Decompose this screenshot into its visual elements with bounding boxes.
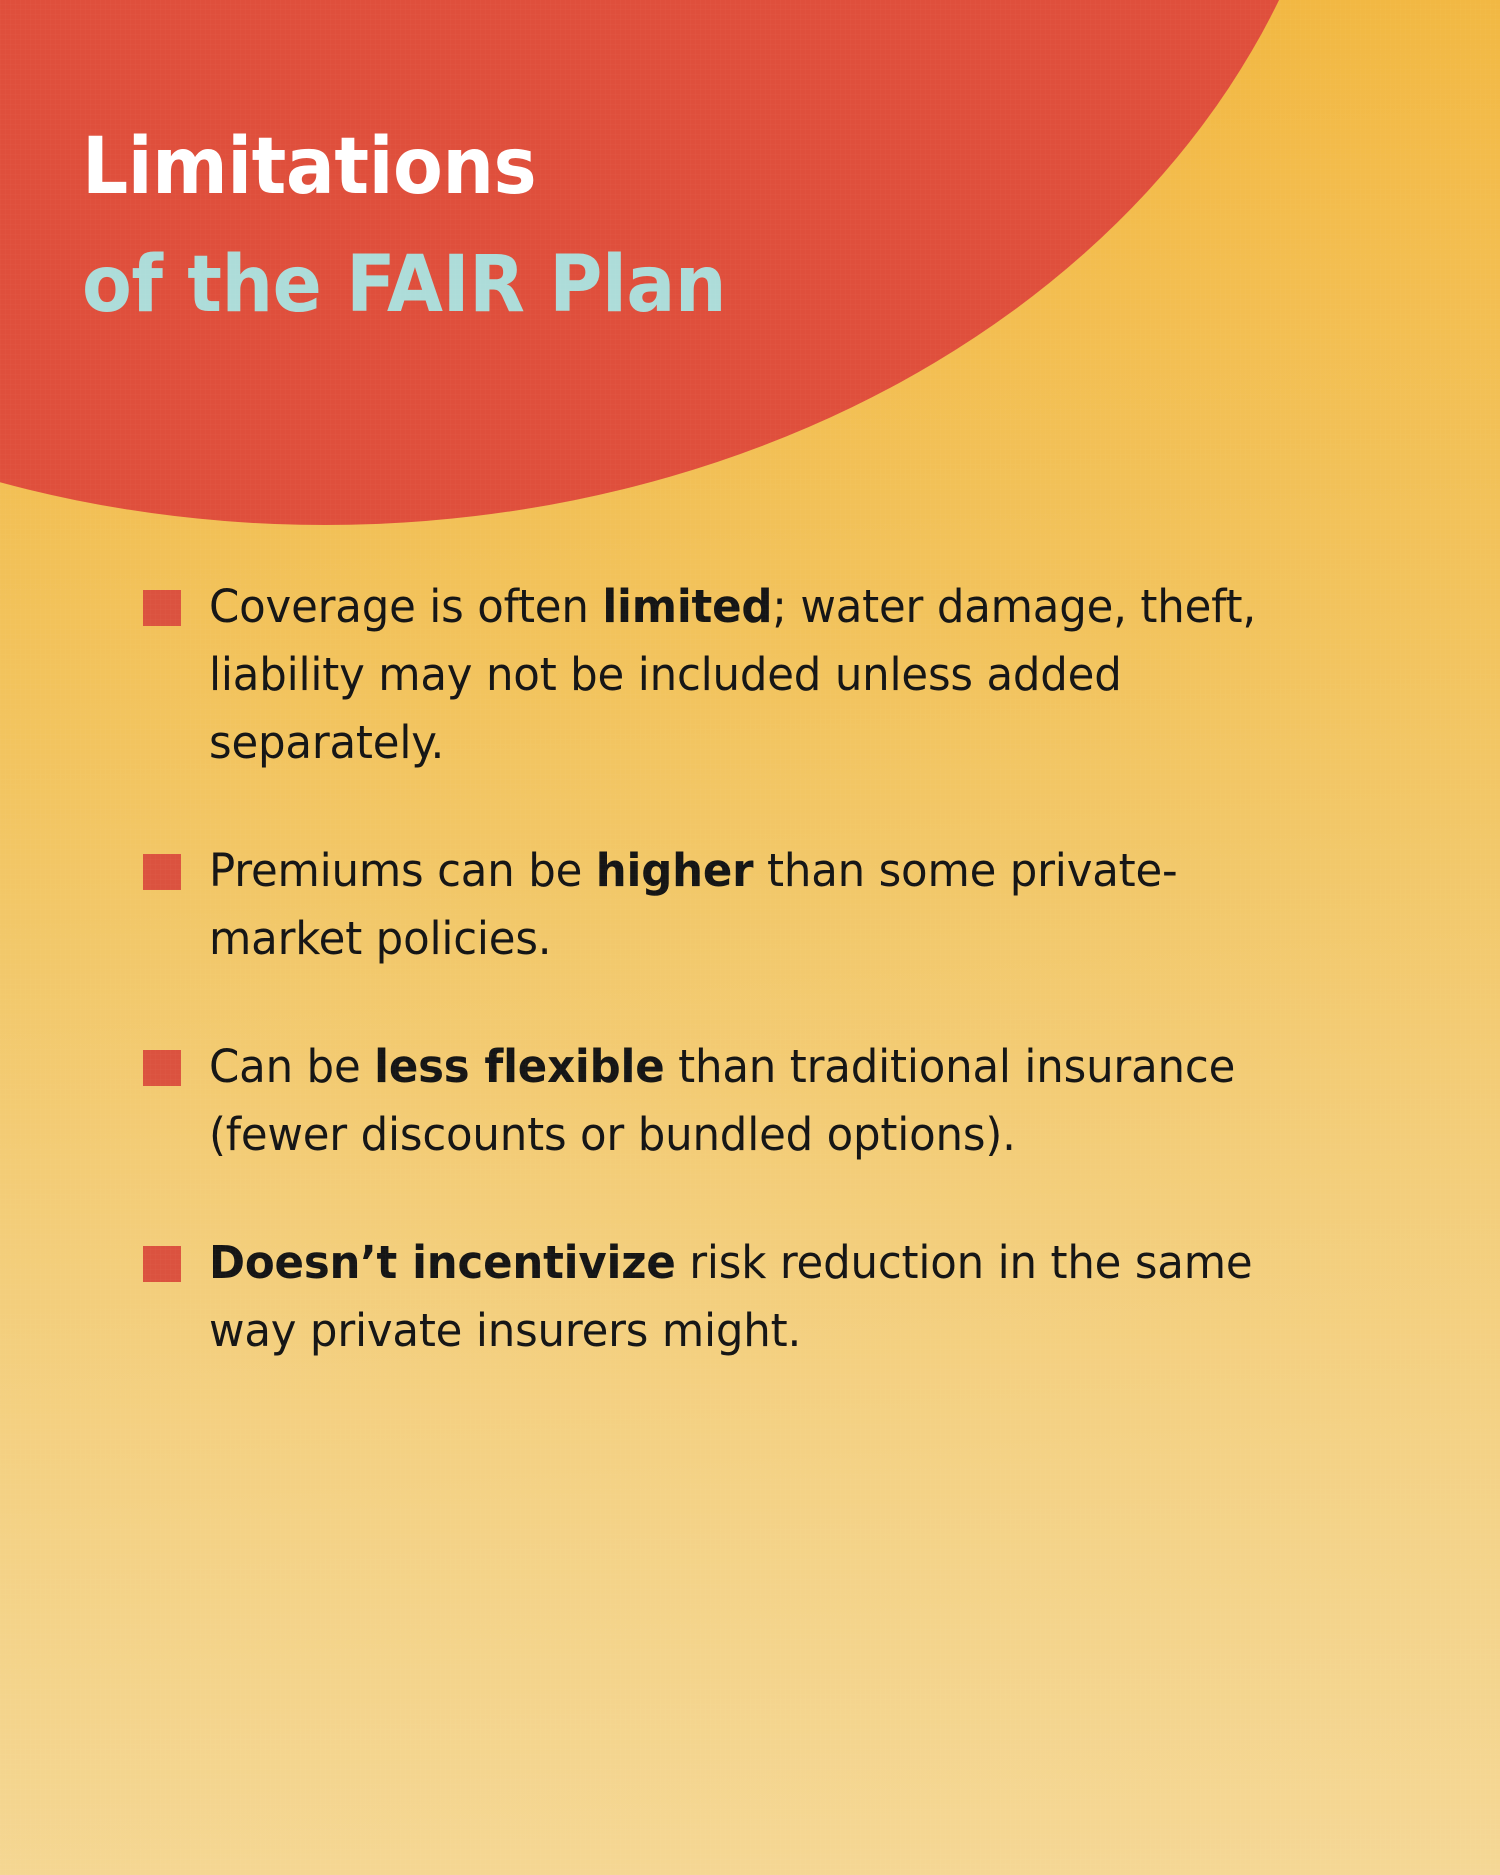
list-item-text: Doesn’t incentivize risk reduction in th… [209, 1229, 1273, 1365]
list-item: Coverage is often limited; water damage,… [143, 573, 1323, 777]
square-bullet-icon [143, 1050, 181, 1086]
square-bullet-icon [143, 590, 181, 626]
square-bullet-icon [143, 854, 181, 890]
list-item: Can be less flexible than traditional in… [143, 1033, 1323, 1169]
body-text: Premiums can be [209, 844, 596, 897]
list-item-text: Premiums can be higher than some private… [209, 837, 1273, 973]
list-item-text: Can be less flexible than traditional in… [209, 1033, 1273, 1169]
list-item: Premiums can be higher than some private… [143, 837, 1323, 973]
emphasis-text: higher [596, 844, 754, 897]
limitations-bullet-list: Coverage is often limited; water damage,… [143, 573, 1323, 1365]
body-text: Coverage is often [209, 580, 602, 633]
square-bullet-icon [143, 1246, 181, 1282]
page-title-line-2: of the FAIR Plan [82, 226, 919, 344]
emphasis-text: Doesn’t incentivize [209, 1236, 676, 1289]
body-text: Can be [209, 1040, 374, 1093]
list-item-text: Coverage is often limited; water damage,… [209, 573, 1273, 777]
list-item: Doesn’t incentivize risk reduction in th… [143, 1229, 1323, 1365]
emphasis-text: limited [602, 580, 772, 633]
page-title: Limitations of the FAIR Plan [82, 108, 982, 344]
page-title-line-1: Limitations [82, 108, 919, 226]
poster-slide: Limitations of the FAIR Plan Coverage is… [0, 0, 1500, 1875]
emphasis-text: less flexible [374, 1040, 664, 1093]
